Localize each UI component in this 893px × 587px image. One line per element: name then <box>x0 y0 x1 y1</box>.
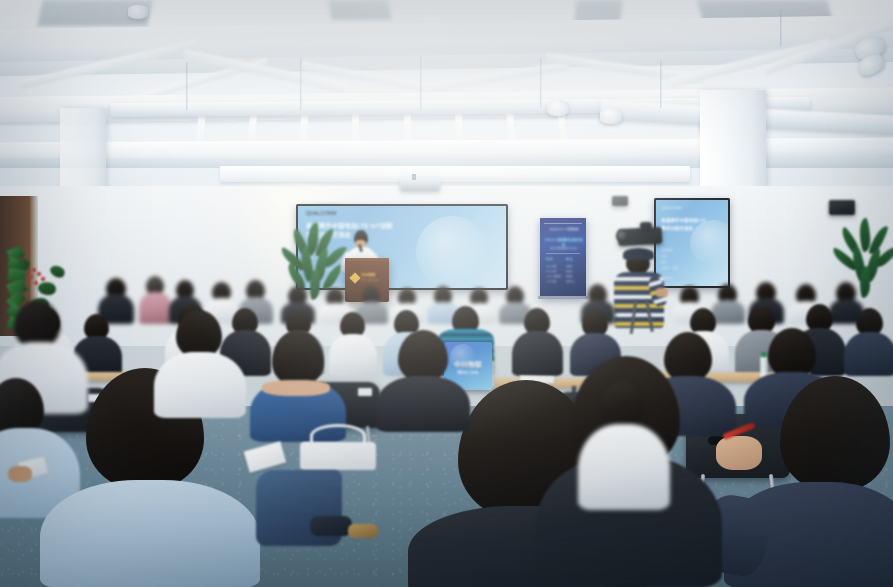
hand <box>8 466 32 482</box>
seminar-room-photo: QUALCOMM 高通携手中国电信LTE IoT创新 需求对接交流会 演讲嘉宾：… <box>0 0 893 587</box>
camera-lens-icon <box>616 230 628 242</box>
banner-col2-heading: 地 点 <box>566 257 572 261</box>
hand <box>716 436 762 470</box>
side-slide-logo: QUALCOMM <box>661 206 682 210</box>
projector-mount <box>412 174 416 180</box>
hanging-rod <box>780 10 782 46</box>
bottle-cap <box>761 352 767 357</box>
banner-rule-top <box>544 223 582 224</box>
cylindrical-vent <box>128 5 148 19</box>
ceiling-gap <box>329 0 392 20</box>
banner-col1-heading: 时 间 <box>546 257 552 261</box>
ceiling-projector <box>400 178 440 191</box>
hanging-rod <box>300 58 302 110</box>
slide-brand-logo: QUALCOMM <box>306 211 337 217</box>
wall-speaker-center <box>612 196 628 206</box>
tentcard-english: WeLink <box>448 370 488 376</box>
camera-viewfinder <box>640 222 652 230</box>
wall-speaker-right <box>829 200 855 215</box>
tentcard-chinese: 中兴物联 <box>448 360 488 370</box>
banner-header: Qualcomm | 中国电信 <box>545 227 583 231</box>
bag-handle <box>310 424 366 448</box>
podium-top <box>345 258 389 263</box>
side-slide-title2: 需求对接交流会 <box>661 226 727 232</box>
videographer-cap <box>623 248 654 260</box>
banner-subtitle: 携手共建物联网产业生态 <box>544 246 583 250</box>
cylindrical-vent <box>600 108 622 124</box>
shoe <box>310 516 352 536</box>
hanging-rod <box>540 58 542 108</box>
hanging-rod <box>186 62 188 110</box>
sandal <box>348 524 378 538</box>
stage-soffit <box>220 166 690 182</box>
cylindrical-vent <box>547 100 569 116</box>
hanging-rod <box>660 60 662 108</box>
banner-rule-mid <box>546 253 580 254</box>
shoulders <box>262 380 330 396</box>
hanging-rod <box>420 56 422 110</box>
side-slide-title1: 高通携手中国电信LTE <box>661 218 727 224</box>
